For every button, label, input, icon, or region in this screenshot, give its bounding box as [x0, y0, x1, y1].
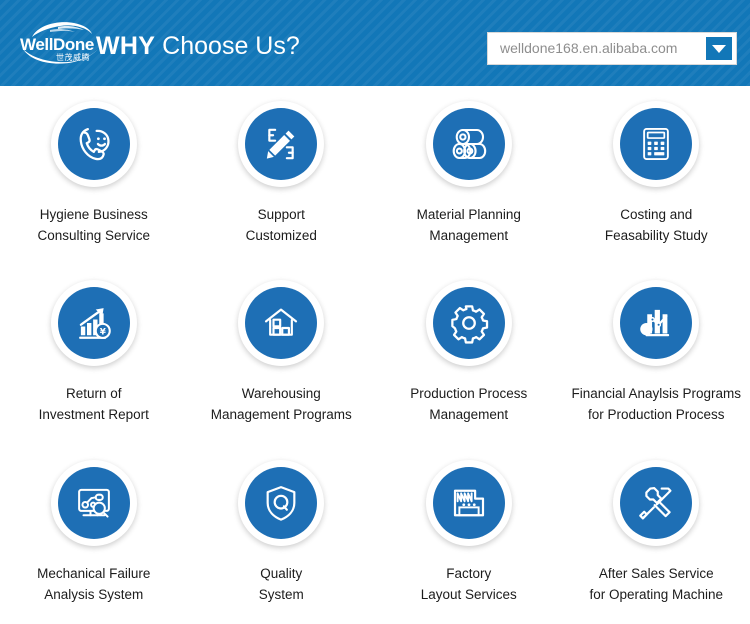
- svg-text:¥: ¥: [99, 328, 105, 338]
- page-title-rest: Choose Us?: [155, 32, 300, 60]
- warehouse-house-icon: [261, 303, 301, 343]
- financial-analysis-icon: [635, 302, 677, 344]
- service-cell-after-sales-service[interactable]: After Sales Service for Operating Machin…: [563, 445, 750, 624]
- service-label: Hygiene Business Consulting Service: [33, 204, 154, 246]
- icon-badge: [238, 280, 324, 366]
- icon-disc: ¥: [58, 287, 130, 359]
- icon-badge: [613, 460, 699, 546]
- icon-disc: [245, 287, 317, 359]
- icon-disc: [620, 467, 692, 539]
- service-label: Return of Investment Report: [35, 383, 153, 425]
- service-label: Quality System: [255, 563, 308, 605]
- service-cell-return-of-investment[interactable]: ¥ Return of Investment Report: [0, 265, 188, 444]
- icon-badge: [51, 101, 137, 187]
- calculator-icon: [637, 125, 675, 163]
- gear-icon: [448, 302, 490, 344]
- header: WellDone 世茂威腾 WHY Choose Us? welldone168…: [0, 0, 750, 86]
- icon-badge: [426, 460, 512, 546]
- service-label: After Sales Service for Operating Machin…: [585, 563, 727, 605]
- icon-badge: [426, 101, 512, 187]
- icon-disc: [58, 467, 130, 539]
- icon-disc: [245, 467, 317, 539]
- icon-badge: [426, 280, 512, 366]
- service-cell-hygiene-business-consulting[interactable]: Hygiene Business Consulting Service: [0, 86, 188, 265]
- chevron-down-icon: [712, 45, 726, 53]
- service-cell-support-customized[interactable]: Support Customized: [188, 86, 376, 265]
- service-label: Factory Layout Services: [417, 563, 521, 605]
- page-title: WHY Choose Us?: [96, 32, 300, 60]
- icon-disc: [620, 108, 692, 180]
- pencil-ruler-icon: [261, 124, 301, 164]
- service-cell-mechanical-failure-analysis[interactable]: Mechanical Failure Analysis System: [0, 445, 188, 624]
- icon-badge: ¥: [51, 280, 137, 366]
- service-cell-financial-analysis[interactable]: Financial Anaylsis Programs for Producti…: [563, 265, 750, 444]
- why-choose-us-banner: WellDone 世茂威腾 WHY Choose Us? welldone168…: [0, 0, 750, 624]
- service-cell-factory-layout[interactable]: Factory Layout Services: [375, 445, 563, 624]
- icon-badge: [238, 101, 324, 187]
- service-label: Warehousing Management Programs: [207, 383, 356, 425]
- icon-disc: [433, 108, 505, 180]
- service-label: Mechanical Failure Analysis System: [33, 563, 154, 605]
- service-cell-costing-feasability[interactable]: Costing and Feasability Study: [563, 86, 750, 265]
- monitor-machine-search-icon: [73, 482, 115, 524]
- icon-badge: [51, 460, 137, 546]
- service-label: Costing and Feasability Study: [601, 204, 712, 246]
- service-label: Support Customized: [242, 204, 321, 246]
- page-title-why: WHY: [96, 32, 155, 60]
- service-cell-quality-system[interactable]: Quality System: [188, 445, 376, 624]
- growth-chart-yen-icon: ¥: [73, 302, 115, 344]
- service-cell-material-planning[interactable]: Material Planning Management: [375, 86, 563, 265]
- url-dropdown-button[interactable]: [706, 37, 732, 60]
- icon-badge: [613, 280, 699, 366]
- service-grid: Hygiene Business Consulting Service: [0, 86, 750, 624]
- icon-disc: [245, 108, 317, 180]
- wrench-screwdriver-icon: [635, 482, 677, 524]
- service-cell-warehousing-management[interactable]: Warehousing Management Programs: [188, 265, 376, 444]
- icon-disc: [620, 287, 692, 359]
- phone-smiley-icon: [73, 123, 115, 165]
- shield-q-icon: [261, 483, 301, 523]
- icon-disc: [58, 108, 130, 180]
- url-field[interactable]: welldone168.en.alibaba.com: [487, 32, 737, 65]
- brand-logo: WellDone 世茂威腾: [20, 20, 102, 68]
- service-label: Financial Anaylsis Programs for Producti…: [567, 383, 745, 425]
- icon-disc: [433, 467, 505, 539]
- icon-badge: [238, 460, 324, 546]
- icon-disc: [433, 287, 505, 359]
- icon-badge: [613, 101, 699, 187]
- logo-arc-icon: [22, 47, 100, 65]
- material-rolls-icon: [448, 123, 490, 165]
- service-label: Material Planning Management: [413, 204, 525, 246]
- service-label: Production Process Management: [406, 383, 531, 425]
- service-cell-production-process[interactable]: Production Process Management: [375, 265, 563, 444]
- factory-icon: [448, 482, 490, 524]
- url-text: welldone168.en.alibaba.com: [500, 33, 677, 64]
